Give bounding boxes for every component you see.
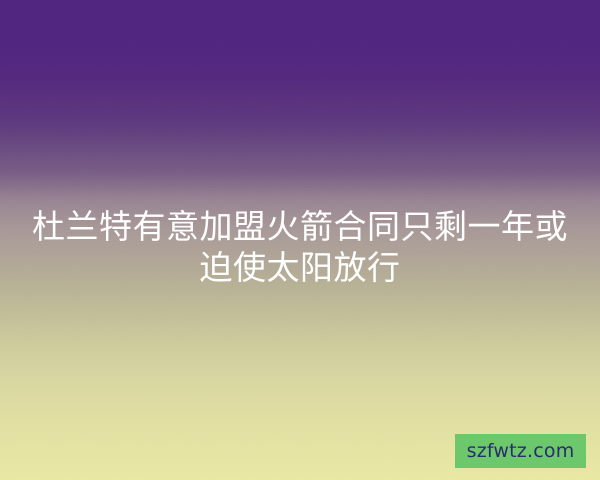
headline-text: 杜兰特有意加盟火箭合同只剩一年或迫使太阳放行	[0, 206, 600, 288]
cover-image-canvas: 杜兰特有意加盟火箭合同只剩一年或迫使太阳放行 szfwtz.com	[0, 0, 600, 480]
watermark-label: szfwtz.com	[467, 442, 575, 461]
watermark-badge: szfwtz.com	[455, 434, 586, 468]
